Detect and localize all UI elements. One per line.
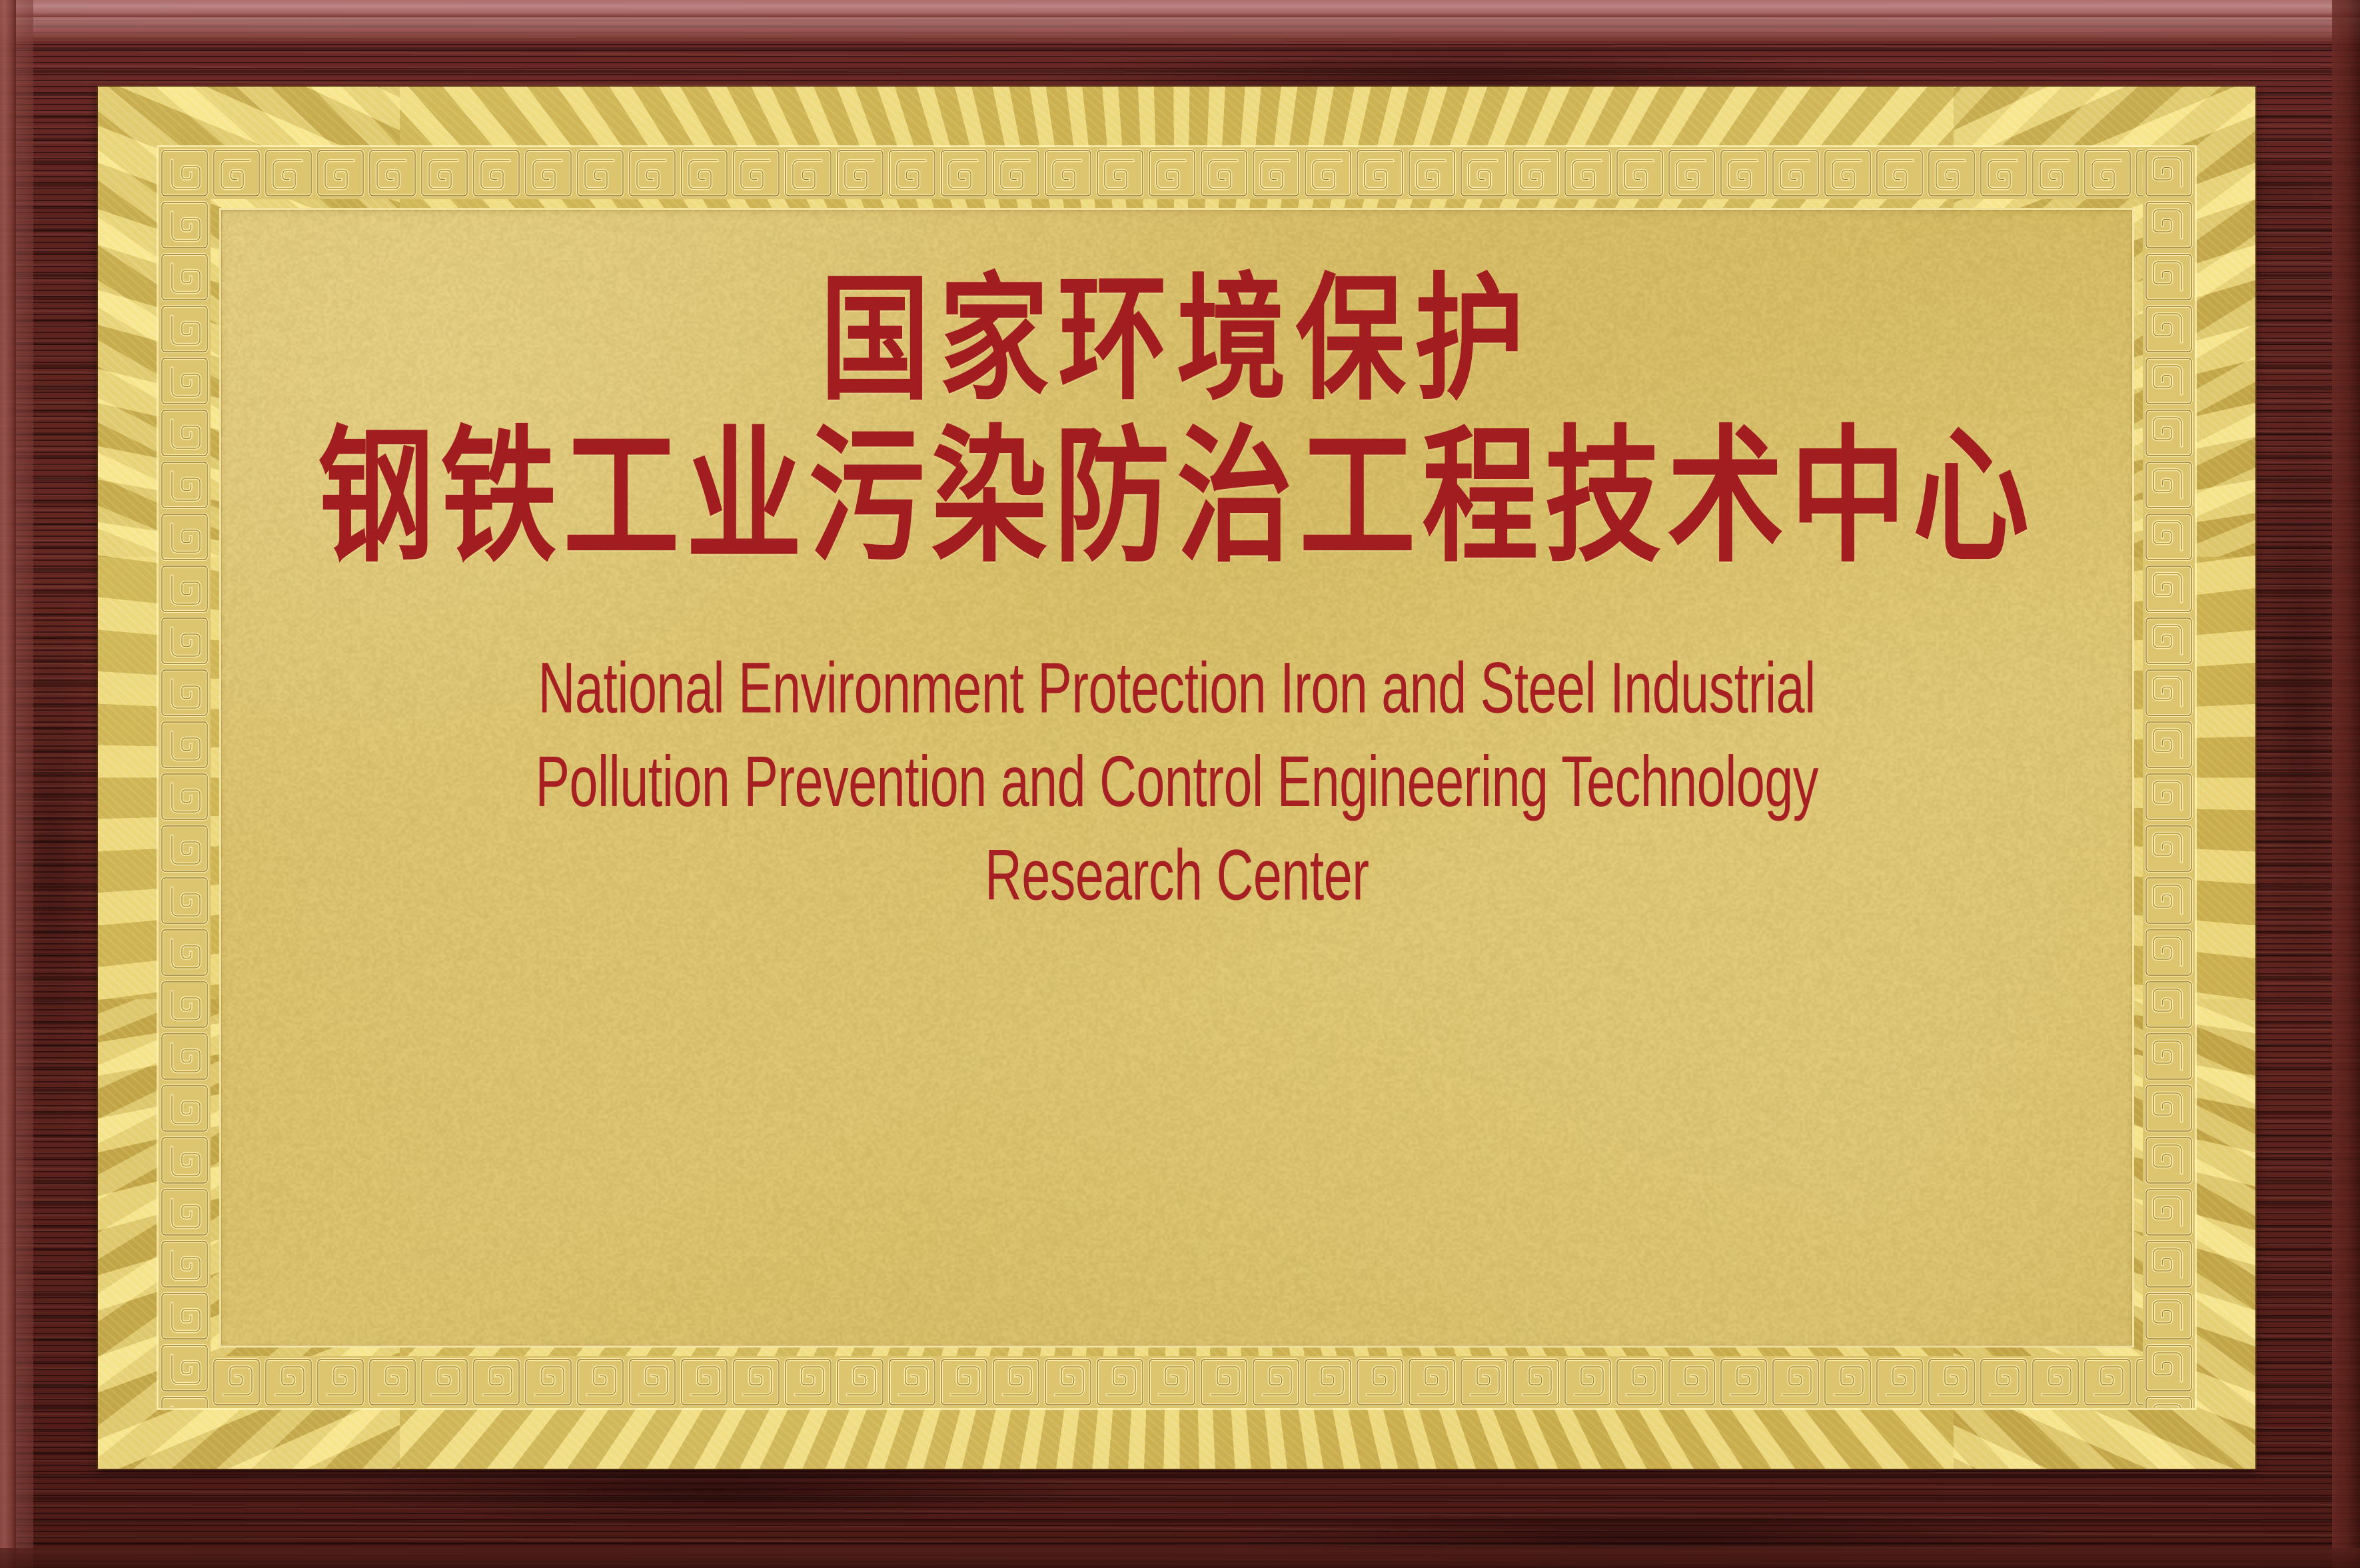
greek-key-tile	[1874, 147, 1926, 199]
greek-key-tile	[626, 1356, 678, 1408]
greek-key-tile	[730, 1356, 782, 1408]
greek-key-tile	[2143, 251, 2195, 303]
greek-key-tile	[1770, 1356, 1822, 1408]
greek-key-tile	[1562, 1356, 1614, 1408]
greek-key-tile	[1718, 1356, 1770, 1408]
greek-key-tile	[2143, 1134, 2195, 1186]
greek-key-tile	[366, 147, 418, 199]
frame-bevel-left-secondary	[16, 0, 33, 1568]
greek-key-tile	[1562, 147, 1614, 199]
greek-key-tile	[834, 147, 886, 199]
greek-key-tile	[782, 1356, 834, 1408]
greek-key-border-left	[159, 147, 211, 1408]
greek-key-tile	[834, 1356, 886, 1408]
greek-key-tile	[990, 147, 1042, 199]
greek-key-tile	[1822, 1356, 1874, 1408]
greek-key-tile	[2143, 615, 2195, 667]
greek-key-tile	[470, 1356, 522, 1408]
greek-key-tile	[159, 459, 211, 511]
greek-key-tile	[418, 1356, 470, 1408]
greek-key-tile	[522, 1356, 574, 1408]
greek-key-tile	[159, 1134, 211, 1186]
greek-key-border-bottom	[159, 1356, 2195, 1408]
frame-bevel-top-secondary	[0, 17, 2360, 41]
greek-key-tile	[2030, 1356, 2081, 1408]
greek-key-tile	[2143, 1082, 2195, 1134]
greek-key-tile	[2143, 147, 2195, 199]
greek-key-tile	[159, 1082, 211, 1134]
greek-key-tile	[470, 147, 522, 199]
greek-key-tile	[211, 147, 263, 199]
greek-key-tile	[2081, 147, 2133, 199]
greek-key-tile	[626, 147, 678, 199]
greek-key-border-top	[159, 147, 2195, 199]
greek-key-tile	[366, 1356, 418, 1408]
greek-key-tile	[2143, 875, 2195, 927]
greek-key-border-right	[2143, 147, 2195, 1408]
greek-key-tile	[159, 147, 211, 199]
greek-key-tile	[159, 563, 211, 615]
greek-key-tile	[1978, 147, 2030, 199]
greek-key-tile	[574, 1356, 626, 1408]
greek-key-tile	[1354, 1356, 1406, 1408]
frame-bevel-bottom-shadow	[0, 1548, 2360, 1568]
greek-key-tile	[263, 147, 314, 199]
greek-key-tile	[1926, 147, 1978, 199]
greek-key-tile	[159, 1394, 211, 1408]
greek-key-tile	[1458, 1356, 1510, 1408]
greek-key-tile	[2143, 823, 2195, 875]
greek-key-tile	[1406, 147, 1458, 199]
greek-key-tile	[574, 147, 626, 199]
greek-key-tile	[2143, 199, 2195, 251]
greek-key-tile	[159, 1290, 211, 1342]
greek-key-tile	[159, 719, 211, 771]
greek-key-tile	[2143, 771, 2195, 823]
greek-key-tile	[159, 511, 211, 563]
greek-key-tile	[2143, 979, 2195, 1030]
greek-key-tile	[211, 1356, 263, 1408]
greek-key-tile	[1666, 1356, 1718, 1408]
greek-key-tile	[159, 199, 211, 251]
greek-key-tile	[314, 1356, 366, 1408]
greek-key-tile	[938, 147, 990, 199]
greek-key-tile	[159, 1186, 211, 1238]
greek-key-tile	[782, 147, 834, 199]
greek-key-tile	[1926, 1356, 1978, 1408]
greek-key-tile	[938, 1356, 990, 1408]
greek-key-tile	[1302, 147, 1354, 199]
greek-key-tile	[2143, 1186, 2195, 1238]
greek-key-tile	[2143, 303, 2195, 355]
frame-bevel-right-shadow	[2332, 0, 2360, 1568]
greek-key-tile	[159, 1342, 211, 1394]
greek-key-tile	[1406, 1356, 1458, 1408]
greek-key-tile	[159, 615, 211, 667]
english-title-line-3: Research Center	[535, 829, 1818, 922]
greek-key-tile	[1614, 147, 1666, 199]
greek-key-tile	[1198, 147, 1250, 199]
greek-key-tile	[2143, 1030, 2195, 1082]
greek-key-tile	[2143, 1342, 2195, 1394]
greek-key-tile	[1146, 1356, 1198, 1408]
greek-key-tile	[1874, 1356, 1926, 1408]
greek-key-tile	[159, 979, 211, 1030]
award-plaque: 国家环境保护 钢铁工业污染防治工程技术中心 National Environme…	[0, 0, 2360, 1568]
greek-key-tile	[2143, 563, 2195, 615]
greek-key-tile	[2143, 927, 2195, 979]
greek-key-tile	[314, 147, 366, 199]
chinese-title-line-1: 国家环境保护	[820, 271, 1533, 408]
greek-key-tile	[1198, 1356, 1250, 1408]
greek-key-tile	[1042, 1356, 1094, 1408]
frame-bevel-top-highlight	[0, 0, 2360, 17]
greek-key-tile	[2143, 355, 2195, 407]
greek-key-tile	[159, 875, 211, 927]
greek-key-tile	[2143, 511, 2195, 563]
greek-key-tile	[159, 407, 211, 459]
greek-key-tile	[159, 303, 211, 355]
greek-key-tile	[159, 771, 211, 823]
greek-key-tile	[2030, 147, 2081, 199]
greek-key-tile	[159, 251, 211, 303]
greek-key-tile	[159, 355, 211, 407]
greek-key-tile	[522, 147, 574, 199]
greek-key-tile	[1510, 147, 1562, 199]
gold-plate: 国家环境保护 钢铁工业污染防治工程技术中心 National Environme…	[98, 87, 2255, 1469]
greek-key-tile	[1250, 1356, 1302, 1408]
greek-key-tile	[1666, 147, 1718, 199]
inner-gold-panel: 国家环境保护 钢铁工业污染防治工程技术中心 National Environme…	[219, 208, 2134, 1348]
greek-key-tile	[2143, 1394, 2195, 1408]
greek-key-tile	[2143, 407, 2195, 459]
greek-key-tile	[1614, 1356, 1666, 1408]
greek-key-tile	[2143, 719, 2195, 771]
greek-key-tile	[159, 823, 211, 875]
greek-key-tile	[1510, 1356, 1562, 1408]
greek-key-tile	[1458, 147, 1510, 199]
greek-key-tile	[1042, 147, 1094, 199]
greek-key-tile	[1718, 147, 1770, 199]
greek-key-tile	[1250, 147, 1302, 199]
english-title-line-1: National Environment Protection Iron and…	[535, 641, 1818, 735]
greek-key-tile	[263, 1356, 314, 1408]
greek-key-tile	[2143, 1290, 2195, 1342]
english-title: National Environment Protection Iron and…	[535, 641, 1818, 922]
greek-key-tile	[1094, 147, 1146, 199]
greek-key-tile	[1354, 147, 1406, 199]
chinese-title-line-2: 钢铁工业污染防治工程技术中心	[318, 424, 2036, 571]
frame-bevel-left-highlight	[0, 0, 16, 1568]
greek-key-tile	[2143, 459, 2195, 511]
greek-key-tile	[1978, 1356, 2030, 1408]
greek-key-tile	[159, 927, 211, 979]
greek-key-tile	[2143, 1238, 2195, 1290]
greek-key-tile	[1094, 1356, 1146, 1408]
greek-key-tile	[1822, 147, 1874, 199]
greek-key-tile	[886, 1356, 938, 1408]
english-title-line-2: Pollution Prevention and Control Enginee…	[535, 735, 1818, 828]
greek-key-tile	[159, 667, 211, 719]
greek-key-tile	[678, 147, 730, 199]
greek-key-tile	[2143, 667, 2195, 719]
greek-key-tile	[886, 147, 938, 199]
greek-key-tile	[1770, 147, 1822, 199]
greek-key-tile	[2081, 1356, 2133, 1408]
greek-key-tile	[730, 147, 782, 199]
greek-key-tile	[418, 147, 470, 199]
greek-key-tile	[1146, 147, 1198, 199]
greek-key-tile	[678, 1356, 730, 1408]
greek-key-tile	[990, 1356, 1042, 1408]
greek-key-tile	[1302, 1356, 1354, 1408]
greek-key-tile	[159, 1030, 211, 1082]
greek-key-tile	[159, 1238, 211, 1290]
plaque-text-block: 国家环境保护 钢铁工业污染防治工程技术中心 National Environme…	[221, 210, 2132, 1346]
